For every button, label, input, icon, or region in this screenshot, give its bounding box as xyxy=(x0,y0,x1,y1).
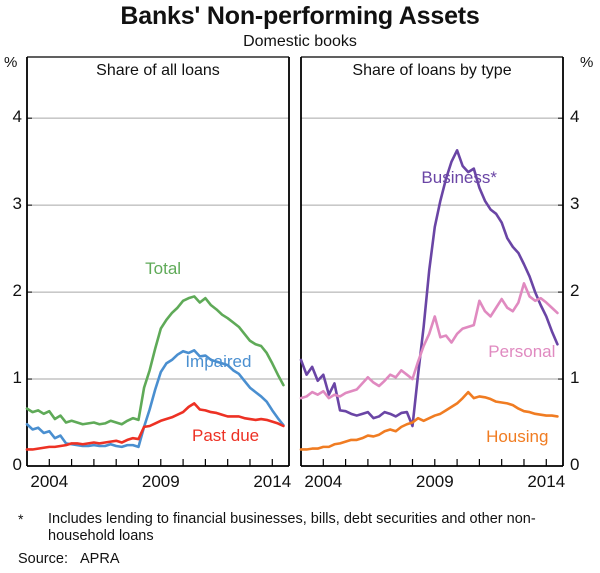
gridlines xyxy=(27,118,563,379)
series-label-pastdue: Past due xyxy=(192,426,259,446)
x-tick-label: 2009 xyxy=(131,472,191,492)
y-tick-label-right: 3 xyxy=(570,194,590,214)
source-label: Source: xyxy=(18,551,68,567)
x-tick-label: 2004 xyxy=(293,472,353,492)
y-tick-label-right: 2 xyxy=(570,281,590,301)
y-tick-label-right: 1 xyxy=(570,368,590,388)
series-line-personal xyxy=(301,283,557,398)
y-tick-label-left: 2 xyxy=(2,281,22,301)
source-value: APRA xyxy=(80,551,120,567)
series-label-total: Total xyxy=(145,259,181,279)
footnote-text: Includes lending to financial businesses… xyxy=(48,511,568,545)
plot-area xyxy=(0,0,600,480)
series-label-personal: Personal xyxy=(488,342,555,362)
y-tick-label-right: 4 xyxy=(570,107,590,127)
y-tick-label-left: 1 xyxy=(2,368,22,388)
x-tick-label: 2004 xyxy=(19,472,79,492)
x-tick-label: 2014 xyxy=(516,472,576,492)
series-label-impaired: Impaired xyxy=(185,352,251,372)
chart-figure: Banks' Non-performing Assets Domestic bo… xyxy=(0,0,600,573)
footnote-mark: * xyxy=(18,511,23,527)
series-line-business xyxy=(301,150,557,426)
y-tick-label-left: 3 xyxy=(2,194,22,214)
data-lines xyxy=(27,150,557,449)
series-label-housing: Housing xyxy=(486,427,548,447)
series-label-business: Business* xyxy=(421,168,497,188)
y-tick-label-left: 4 xyxy=(2,107,22,127)
x-tick-label: 2009 xyxy=(405,472,465,492)
